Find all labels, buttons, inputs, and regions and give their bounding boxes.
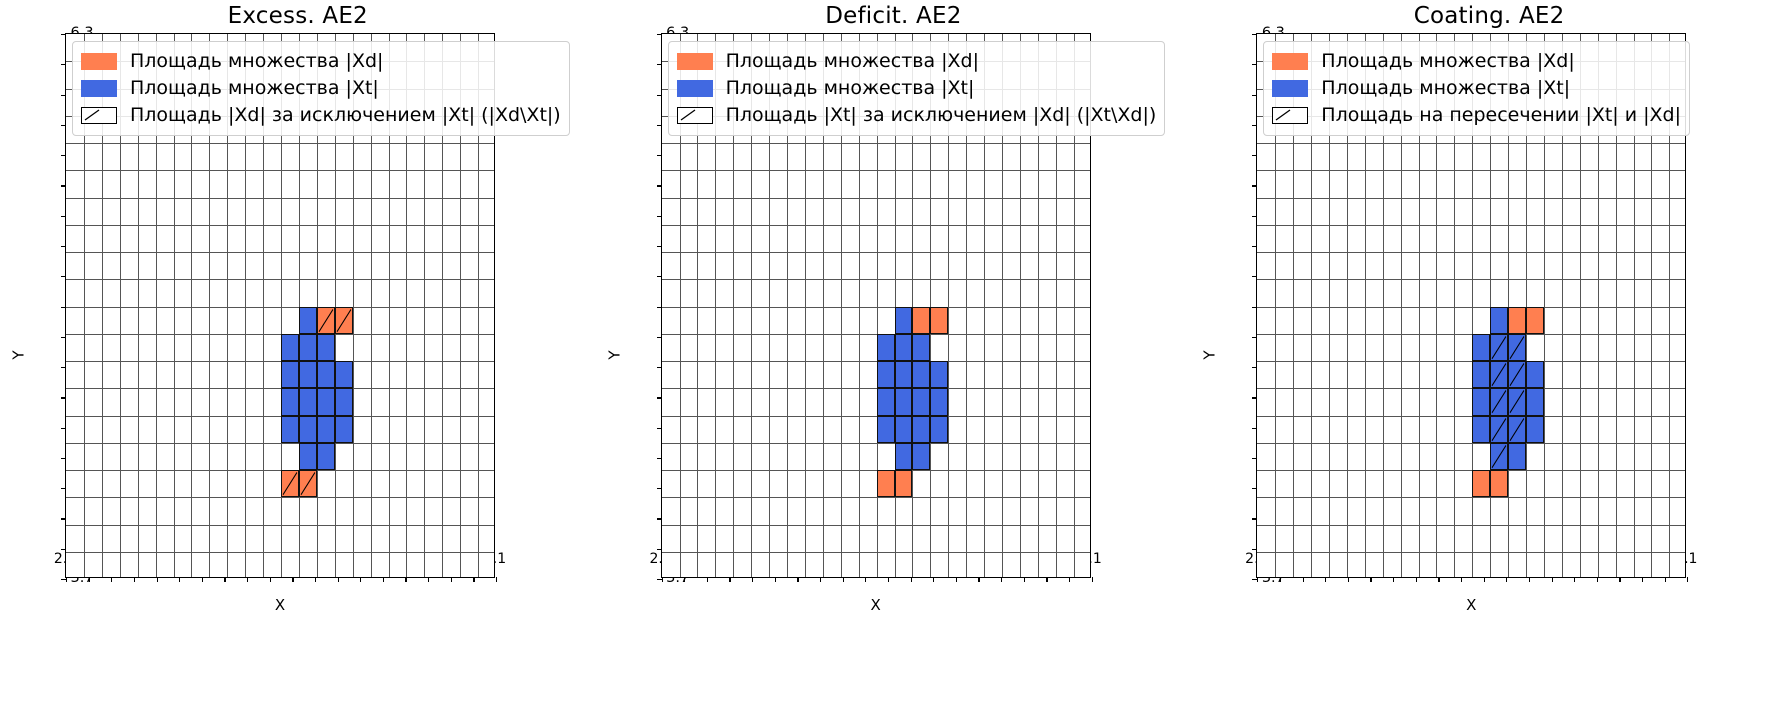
x-tick-mark	[1001, 577, 1002, 582]
x-tick-mark	[1665, 577, 1666, 582]
data-cell-blue-hatched	[1490, 334, 1508, 361]
y-tick-mark	[61, 549, 66, 550]
data-cell-orange	[1508, 307, 1526, 334]
x-tick-mark	[1024, 577, 1025, 582]
legend-item[interactable]: Площадь |Xt| за исключением |Xd| (|Xt\Xd…	[677, 102, 1157, 129]
x-tick-mark	[473, 577, 474, 582]
x-tick-mark	[1529, 577, 1530, 582]
legend-item-label: Площадь на пересечении |Xt| и |Xd|	[1321, 106, 1681, 125]
y-tick-mark	[657, 337, 662, 338]
data-cell-blue	[317, 334, 335, 361]
x-tick-mark	[820, 577, 821, 582]
data-cell-blue	[317, 388, 335, 415]
x-axis-label: X	[661, 596, 1091, 614]
legend-swatch-orange-icon	[1272, 53, 1308, 70]
data-cell-blue	[930, 361, 948, 388]
y-tick-mark	[1252, 125, 1257, 126]
y-tick-mark	[657, 367, 662, 368]
y-tick-mark	[657, 185, 662, 186]
x-tick-mark	[888, 577, 889, 582]
x-tick-mark	[451, 577, 452, 582]
legend-item-label: Площадь множества |Xt|	[726, 79, 975, 98]
x-tick-mark	[1257, 577, 1258, 582]
data-cell-blue	[930, 416, 948, 443]
y-axis-label: Y	[605, 350, 623, 359]
y-tick-mark	[1252, 95, 1257, 96]
legend-swatch-hatch-icon	[677, 107, 713, 124]
chart-legend[interactable]: Площадь множества |Xd|Площадь множества …	[72, 41, 570, 136]
x-tick-mark	[1438, 577, 1439, 582]
y-tick-mark	[61, 185, 66, 186]
chart-legend[interactable]: Площадь множества |Xd|Площадь множества …	[668, 41, 1166, 136]
y-axis-label: Y	[1201, 350, 1219, 359]
data-cell-blue	[912, 361, 930, 388]
data-cell-orange	[1526, 307, 1544, 334]
x-tick-mark	[1506, 577, 1507, 582]
y-tick-mark	[1252, 549, 1257, 550]
data-cell-blue	[335, 388, 353, 415]
data-cell-blue-hatched	[1490, 388, 1508, 415]
y-tick-mark	[657, 458, 662, 459]
y-tick-mark	[1252, 307, 1257, 308]
x-tick-mark	[1574, 577, 1575, 582]
y-tick-mark	[657, 549, 662, 550]
y-tick-mark	[657, 216, 662, 217]
x-tick-mark	[1069, 577, 1070, 582]
data-cell-blue	[912, 443, 930, 470]
x-tick-mark	[1619, 577, 1620, 582]
x-tick-mark	[270, 577, 271, 582]
y-tick-mark	[61, 488, 66, 489]
x-tick-mark	[865, 577, 866, 582]
x-tick-mark	[157, 577, 158, 582]
y-tick-mark	[657, 155, 662, 156]
x-tick-mark	[752, 577, 753, 582]
x-tick-mark	[360, 577, 361, 582]
x-tick-mark	[111, 577, 112, 582]
data-cell-orange-hatched	[317, 307, 335, 334]
x-tick-mark	[1046, 577, 1047, 582]
y-tick-mark	[657, 246, 662, 247]
x-tick-mark	[1461, 577, 1462, 582]
legend-item[interactable]: Площадь |Xd| за исключением |Xt| (|Xd\Xt…	[81, 102, 561, 129]
x-tick-mark	[1416, 577, 1417, 582]
x-tick-mark	[338, 577, 339, 582]
data-cell-blue	[895, 334, 913, 361]
x-tick-mark	[707, 577, 708, 582]
y-tick-mark	[61, 34, 66, 35]
y-tick-mark	[657, 64, 662, 65]
data-cell-blue	[912, 416, 930, 443]
data-cell-blue-hatched	[1508, 334, 1526, 361]
data-cell-blue	[1472, 334, 1490, 361]
x-tick-mark	[89, 577, 90, 582]
data-cell-blue	[317, 416, 335, 443]
data-cell-blue	[877, 416, 895, 443]
legend-item-label: Площадь множества |Xd|	[130, 52, 383, 71]
legend-item-label: Площадь множества |Xt|	[1321, 79, 1570, 98]
data-cell-orange	[1490, 470, 1508, 497]
data-cell-blue	[299, 388, 317, 415]
y-tick-mark	[657, 428, 662, 429]
y-tick-mark	[61, 276, 66, 277]
data-cell-orange-hatched	[335, 307, 353, 334]
data-cell-blue	[335, 361, 353, 388]
data-cell-blue	[895, 361, 913, 388]
data-cell-blue	[281, 416, 299, 443]
data-cell-blue-hatched	[1508, 361, 1526, 388]
x-tick-mark	[662, 577, 663, 582]
y-tick-mark	[61, 216, 66, 217]
y-tick-mark	[61, 397, 66, 398]
data-cell-blue	[1508, 443, 1526, 470]
legend-item-label: Площадь множества |Xd|	[1321, 52, 1574, 71]
x-tick-mark	[775, 577, 776, 582]
data-cell-blue-hatched	[1490, 416, 1508, 443]
data-cell-blue	[335, 416, 353, 443]
y-tick-mark	[1252, 155, 1257, 156]
x-tick-mark	[1393, 577, 1394, 582]
legend-item-label: Площадь множества |Xt|	[130, 79, 379, 98]
data-cell-blue	[930, 388, 948, 415]
x-tick-mark	[134, 577, 135, 582]
y-tick-mark	[61, 155, 66, 156]
legend-swatch-blue-icon	[677, 80, 713, 97]
chart-legend[interactable]: Площадь множества |Xd|Площадь множества …	[1263, 41, 1690, 136]
y-tick-mark	[1252, 276, 1257, 277]
x-tick-mark	[66, 577, 67, 582]
y-tick-mark	[657, 518, 662, 519]
x-tick-mark	[179, 577, 180, 582]
legend-item-label: Площадь |Xt| за исключением |Xd| (|Xt\Xd…	[726, 106, 1157, 125]
data-cell-blue-hatched	[1490, 443, 1508, 470]
legend-item[interactable]: Площадь на пересечении |Xt| и |Xd|	[1272, 102, 1681, 129]
x-tick-mark	[684, 577, 685, 582]
data-cell-blue	[1472, 361, 1490, 388]
data-cell-blue	[895, 416, 913, 443]
x-axis-label: X	[1256, 596, 1686, 614]
y-tick-mark	[61, 307, 66, 308]
y-tick-mark	[657, 95, 662, 96]
data-cell-blue	[299, 361, 317, 388]
data-cell-blue	[299, 307, 317, 334]
data-cell-blue-hatched	[1490, 361, 1508, 388]
data-cell-blue	[281, 388, 299, 415]
x-tick-mark	[428, 577, 429, 582]
data-cell-orange-hatched	[299, 470, 317, 497]
data-cell-blue	[281, 361, 299, 388]
y-tick-mark	[657, 488, 662, 489]
legend-swatch-orange-icon	[81, 53, 117, 70]
legend-swatch-orange-icon	[677, 53, 713, 70]
data-cell-blue	[299, 443, 317, 470]
y-tick-mark	[61, 428, 66, 429]
x-tick-mark	[224, 577, 225, 582]
data-cell-orange	[895, 470, 913, 497]
x-tick-mark	[496, 577, 497, 582]
y-tick-mark	[1252, 246, 1257, 247]
data-cell-blue-hatched	[1508, 416, 1526, 443]
data-cell-blue	[1526, 361, 1544, 388]
legend-item[interactable]: Площадь множества |Xt|	[81, 75, 561, 102]
y-tick-mark	[1252, 458, 1257, 459]
y-tick-mark	[1252, 34, 1257, 35]
y-tick-mark	[61, 125, 66, 126]
data-cell-blue	[1526, 416, 1544, 443]
x-tick-mark	[1597, 577, 1598, 582]
x-tick-mark	[956, 577, 957, 582]
y-tick-mark	[657, 276, 662, 277]
data-cell-blue	[317, 361, 335, 388]
x-tick-mark	[202, 577, 203, 582]
x-tick-mark	[1687, 577, 1688, 582]
x-tick-mark	[1303, 577, 1304, 582]
y-tick-mark	[61, 518, 66, 519]
y-tick-mark	[1252, 488, 1257, 489]
legend-swatch-blue-icon	[81, 80, 117, 97]
chart-panel-1: Excess. AE2YX6.36.16.05.95.75.55.35.25.1…	[0, 0, 596, 709]
data-cell-orange	[877, 470, 895, 497]
legend-item-label: Площадь |Xd| за исключением |Xt| (|Xd\Xt…	[130, 106, 561, 125]
y-axis-label: Y	[10, 350, 28, 359]
legend-item[interactable]: Площадь множества |Xt|	[1272, 75, 1681, 102]
data-cell-blue	[299, 334, 317, 361]
data-cell-blue	[877, 361, 895, 388]
y-tick-mark	[657, 34, 662, 35]
y-tick-mark	[657, 397, 662, 398]
y-tick-mark	[61, 246, 66, 247]
figure-canvas: Excess. AE2YX6.36.16.05.95.75.55.35.25.1…	[0, 0, 1787, 709]
x-tick-mark	[1348, 577, 1349, 582]
data-cell-orange-hatched	[281, 470, 299, 497]
legend-item-label: Площадь множества |Xd|	[726, 52, 979, 71]
y-tick-mark	[1252, 518, 1257, 519]
x-tick-mark	[978, 577, 979, 582]
legend-item[interactable]: Площадь множества |Xd|	[81, 48, 561, 75]
data-cell-blue	[912, 334, 930, 361]
data-cell-blue	[895, 307, 913, 334]
x-tick-mark	[1552, 577, 1553, 582]
x-tick-mark	[292, 577, 293, 582]
legend-item[interactable]: Площадь множества |Xd|	[677, 48, 1157, 75]
data-cell-blue	[1472, 388, 1490, 415]
legend-swatch-blue-icon	[1272, 80, 1308, 97]
legend-item[interactable]: Площадь множества |Xd|	[1272, 48, 1681, 75]
x-tick-mark	[1092, 577, 1093, 582]
data-cell-blue	[1526, 388, 1544, 415]
x-tick-mark	[1370, 577, 1371, 582]
x-tick-mark	[1642, 577, 1643, 582]
x-tick-mark	[933, 577, 934, 582]
data-cell-blue	[317, 443, 335, 470]
x-tick-mark	[911, 577, 912, 582]
legend-swatch-hatch-icon	[1272, 107, 1308, 124]
data-cell-blue	[281, 334, 299, 361]
data-cell-blue	[895, 388, 913, 415]
x-tick-mark	[1325, 577, 1326, 582]
x-tick-mark	[247, 577, 248, 582]
data-cell-blue	[877, 334, 895, 361]
legend-swatch-hatch-icon	[81, 107, 117, 124]
y-tick-mark	[1252, 185, 1257, 186]
data-cell-blue	[877, 388, 895, 415]
data-cell-blue	[1490, 307, 1508, 334]
x-tick-mark	[843, 577, 844, 582]
data-cell-blue	[895, 443, 913, 470]
legend-item[interactable]: Площадь множества |Xt|	[677, 75, 1157, 102]
y-tick-mark	[657, 125, 662, 126]
y-tick-mark	[1252, 428, 1257, 429]
data-cell-orange	[912, 307, 930, 334]
data-cell-blue	[912, 388, 930, 415]
chart-panel-2: Deficit. AE2YX6.36.16.05.95.75.55.35.25.…	[596, 0, 1192, 709]
y-tick-mark	[1252, 367, 1257, 368]
y-tick-mark	[657, 307, 662, 308]
y-tick-mark	[1252, 337, 1257, 338]
x-tick-mark	[383, 577, 384, 582]
x-tick-mark	[729, 577, 730, 582]
chart-panel-3: Coating. AE2YX6.36.16.05.95.75.55.35.25.…	[1191, 0, 1787, 709]
data-cell-orange	[930, 307, 948, 334]
x-tick-mark	[797, 577, 798, 582]
y-tick-mark	[61, 367, 66, 368]
y-tick-mark	[61, 458, 66, 459]
data-cell-orange	[1472, 470, 1490, 497]
y-tick-mark	[1252, 397, 1257, 398]
x-tick-mark	[315, 577, 316, 582]
y-tick-mark	[1252, 64, 1257, 65]
x-tick-mark	[1484, 577, 1485, 582]
x-tick-mark	[405, 577, 406, 582]
data-cell-blue	[299, 416, 317, 443]
data-cell-blue-hatched	[1508, 388, 1526, 415]
x-axis-label: X	[65, 596, 495, 614]
y-tick-mark	[61, 95, 66, 96]
y-tick-mark	[61, 337, 66, 338]
x-tick-mark	[1280, 577, 1281, 582]
y-tick-mark	[61, 64, 66, 65]
y-tick-mark	[1252, 216, 1257, 217]
data-cell-blue	[1472, 416, 1490, 443]
